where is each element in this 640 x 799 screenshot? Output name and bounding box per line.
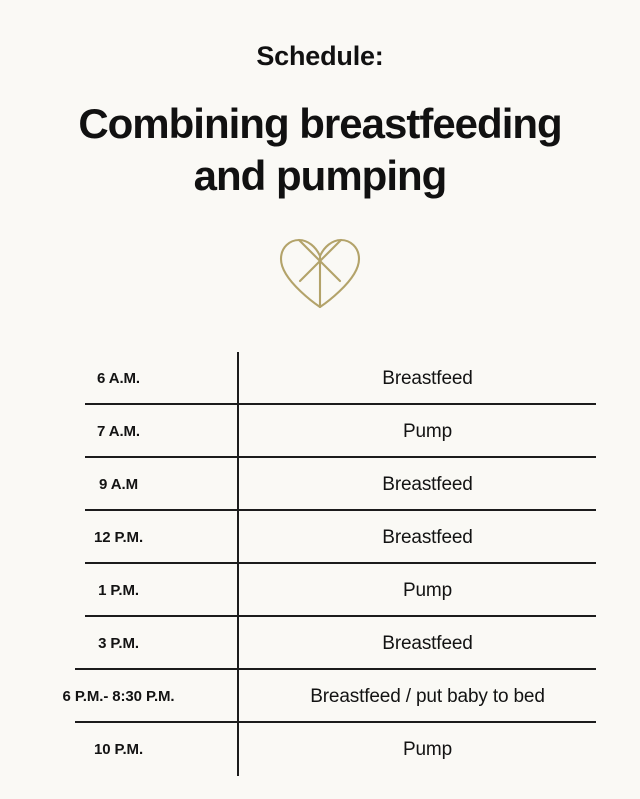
page-title: Combining breastfeeding and pumping: [50, 98, 590, 203]
table-row: 6 A.M. Breastfeed: [0, 352, 640, 405]
row-time: 6 P.M.- 8:30 P.M.: [0, 688, 237, 705]
row-activity: Breastfeed: [237, 633, 640, 655]
table-row: 12 P.M. Breastfeed: [0, 511, 640, 564]
heart-divider: [0, 237, 640, 311]
row-time: 9 A.M: [0, 476, 237, 493]
row-activity: Breastfeed / put baby to bed: [237, 686, 640, 708]
row-activity: Breastfeed: [237, 527, 640, 549]
heart-icon: [277, 237, 363, 311]
table-row: 3 P.M. Breastfeed: [0, 617, 640, 670]
row-time: 10 P.M.: [0, 741, 237, 758]
row-activity: Breastfeed: [237, 368, 640, 390]
row-activity: Pump: [237, 421, 640, 443]
schedule-rows: 6 A.M. Breastfeed 7 A.M. Pump 9 A.M Brea…: [0, 352, 640, 776]
table-row: 6 P.M.- 8:30 P.M. Breastfeed / put baby …: [0, 670, 640, 723]
row-time: 6 A.M.: [0, 370, 237, 387]
row-time: 3 P.M.: [0, 635, 237, 652]
eyebrow-label: Schedule:: [0, 42, 640, 72]
table-row: 9 A.M Breastfeed: [0, 458, 640, 511]
row-activity: Breastfeed: [237, 474, 640, 496]
table-row: 1 P.M. Pump: [0, 564, 640, 617]
row-time: 1 P.M.: [0, 582, 237, 599]
table-row: 7 A.M. Pump: [0, 405, 640, 458]
row-activity: Pump: [237, 580, 640, 602]
schedule-poster: Schedule: Combining breastfeeding and pu…: [0, 0, 640, 799]
poster-header: Schedule: Combining breastfeeding and pu…: [0, 0, 640, 203]
table-row: 10 P.M. Pump: [0, 723, 640, 776]
row-time: 12 P.M.: [0, 529, 237, 546]
row-activity: Pump: [237, 739, 640, 761]
schedule-table: 6 A.M. Breastfeed 7 A.M. Pump 9 A.M Brea…: [0, 352, 640, 776]
row-time: 7 A.M.: [0, 423, 237, 440]
